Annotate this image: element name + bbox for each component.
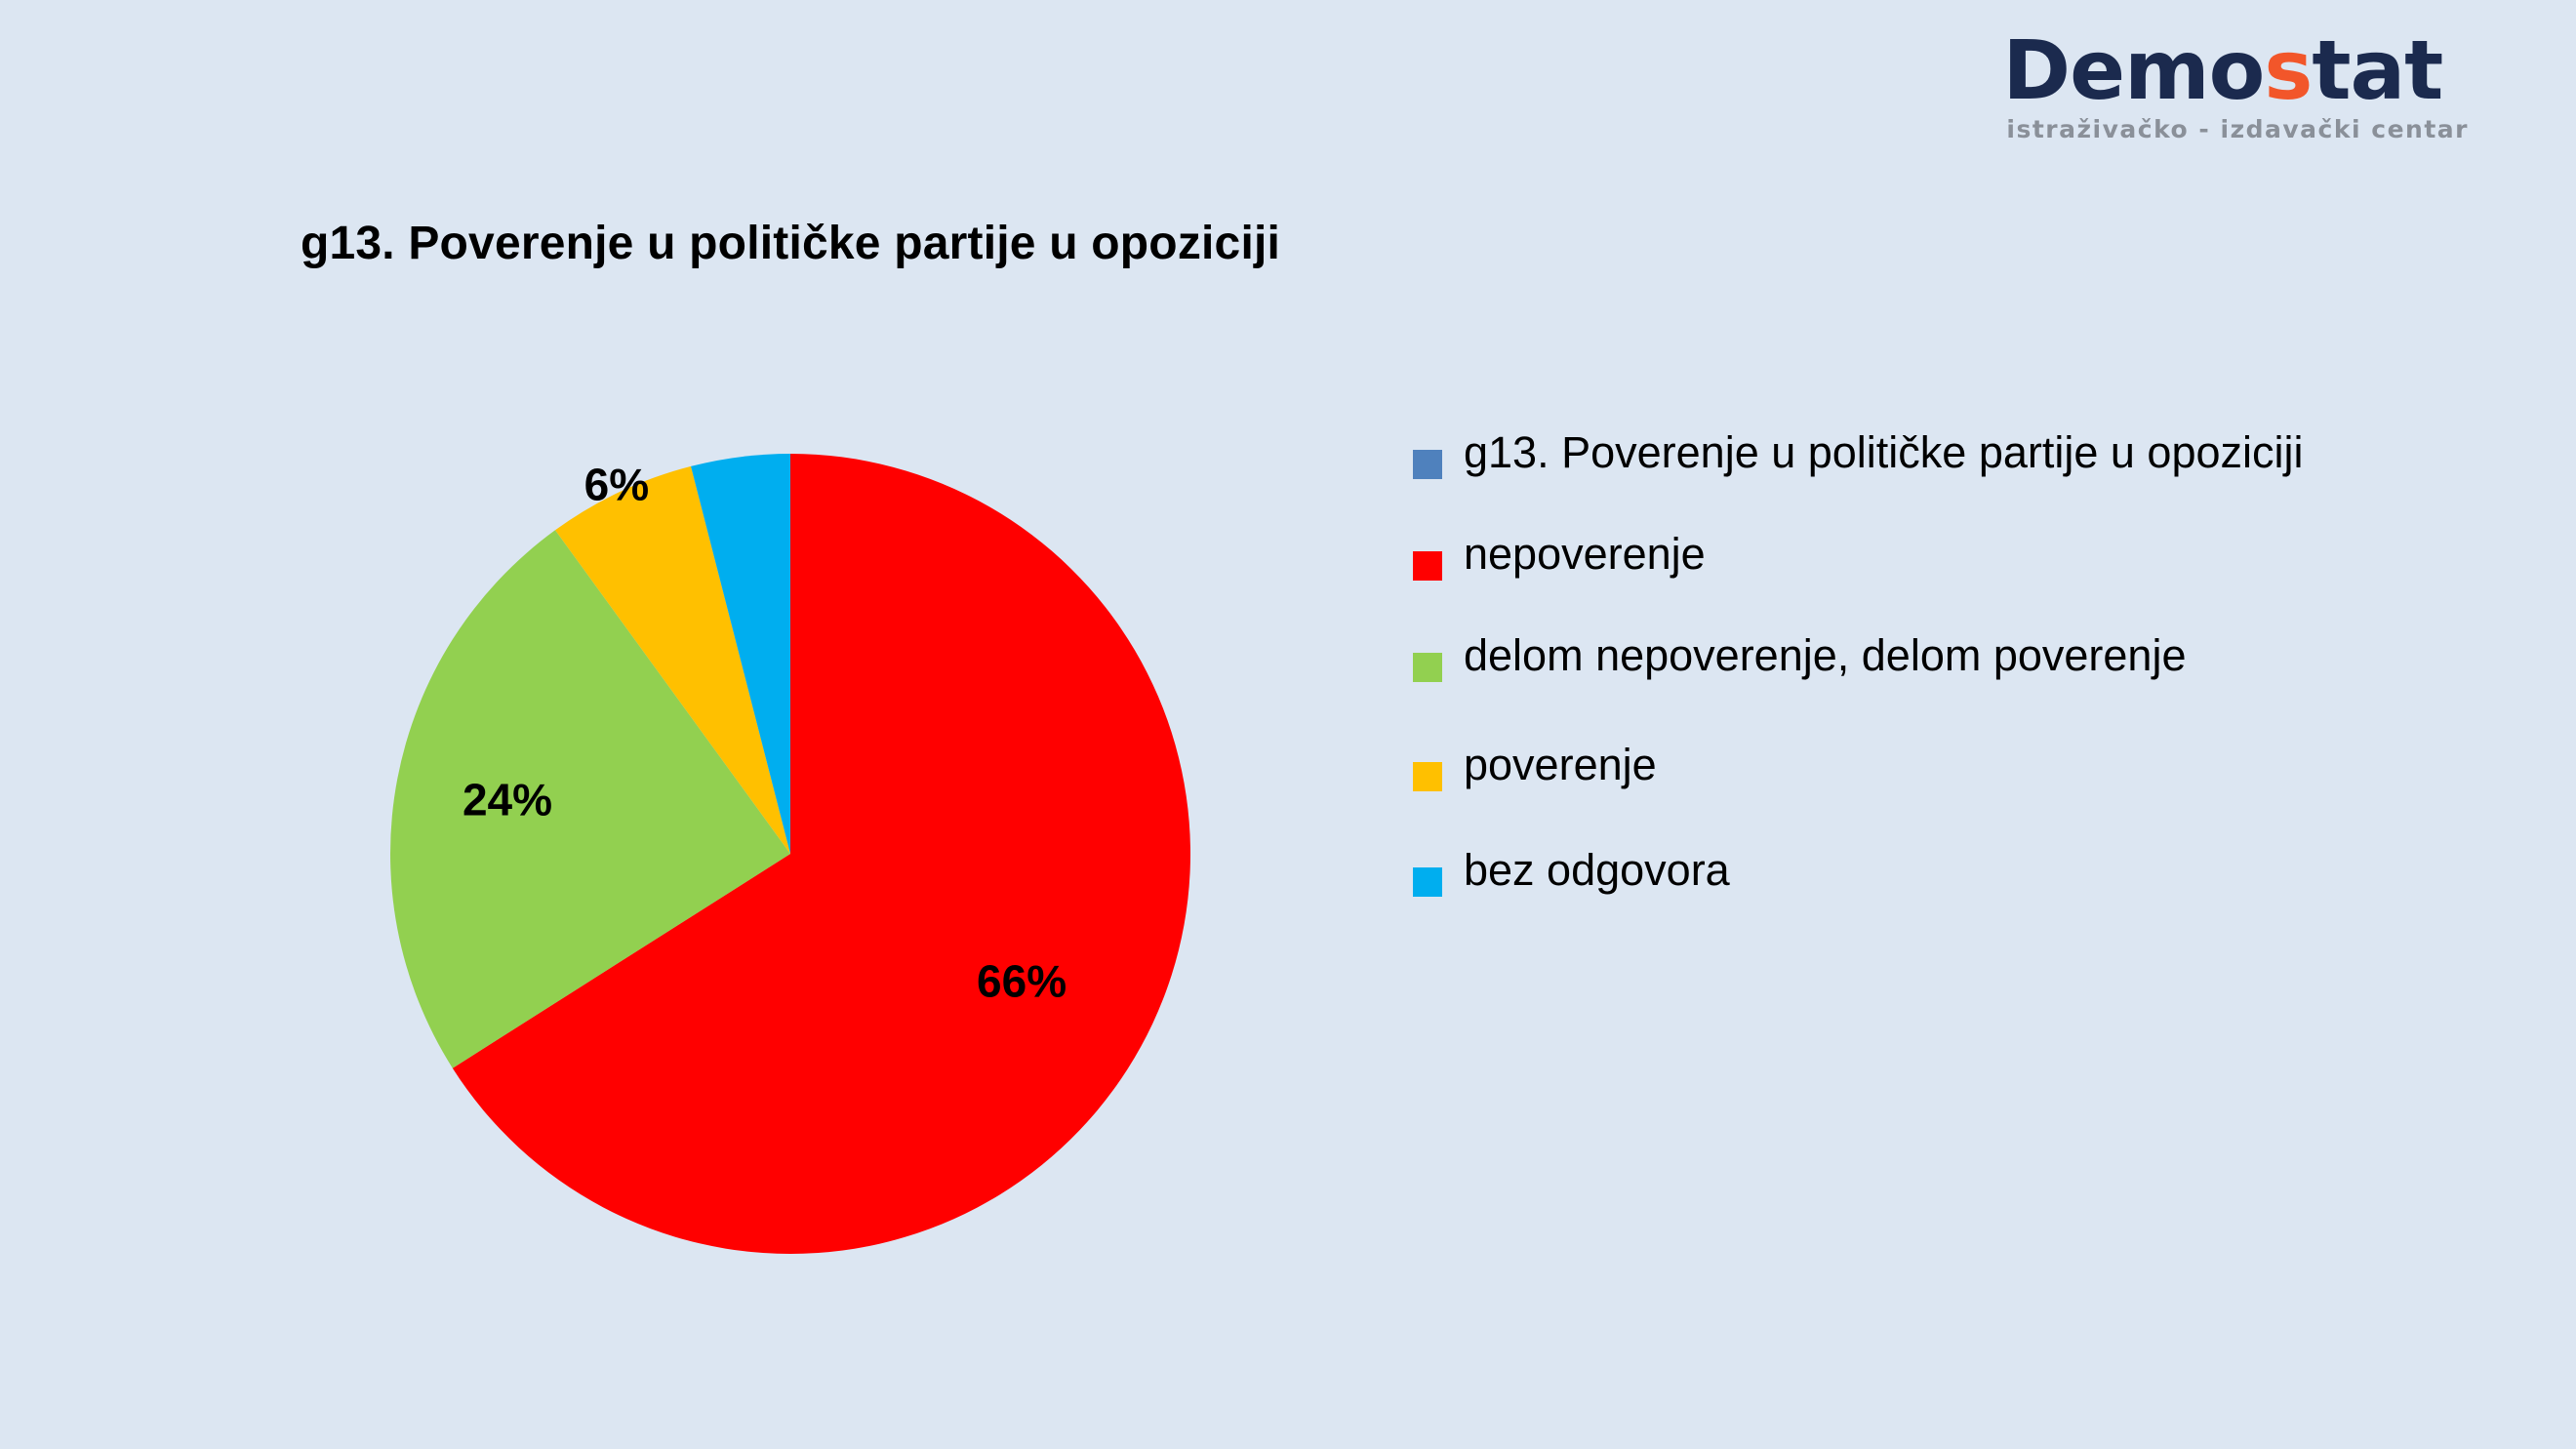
legend-item-delom-nepoverenje-delom-poverenje[interactable]: delom nepoverenje, delom poverenje — [1413, 632, 2506, 742]
pie-data-label: 6% — [584, 460, 649, 510]
chart-legend: g13. Poverenje u političke partije u opo… — [1413, 429, 2506, 948]
legend-label-poverenje: poverenje — [1464, 742, 1657, 788]
legend-item-poverenje[interactable]: poverenje — [1413, 742, 2506, 847]
pie-slice-group — [390, 454, 1190, 1254]
legend-item-series[interactable]: g13. Poverenje u političke partije u opo… — [1413, 429, 2506, 531]
legend-swatch-nepoverenje — [1413, 551, 1442, 581]
pie-data-label: 66% — [977, 955, 1067, 1006]
logo-word-part2: tat — [2312, 22, 2442, 118]
pie-chart: 66%24%6%4% — [390, 454, 1190, 1254]
legend-label-bez-odgovora: bez odgovora — [1464, 847, 1730, 894]
legend-label-nepoverenje: nepoverenje — [1464, 531, 1706, 578]
legend-swatch-bez-odgovora — [1413, 867, 1442, 897]
pie-chart-svg: 66%24%6%4% — [390, 454, 1190, 1254]
logo-word-part1: Demo — [2002, 22, 2264, 118]
legend-item-nepoverenje[interactable]: nepoverenje — [1413, 531, 2506, 632]
legend-label-delom-nepoverenje-delom-poverenje: delom nepoverenje, delom poverenje — [1464, 632, 2186, 679]
pie-data-label: 24% — [463, 775, 552, 825]
chart-title: g13. Poverenje u političke partije u opo… — [0, 217, 1581, 270]
logo-word-accent: s — [2264, 22, 2312, 118]
legend-swatch-delom-nepoverenje-delom-poverenje — [1413, 653, 1442, 682]
legend-swatch-series — [1413, 450, 1442, 479]
logo-wordmark: Demostat — [2002, 29, 2469, 111]
logo-subtitle: istraživačko - izdavački centar — [2002, 117, 2469, 141]
legend-swatch-poverenje — [1413, 762, 1442, 791]
legend-label-series: g13. Poverenje u političke partije u opo… — [1464, 429, 2304, 476]
demostat-logo: Demostat istraživačko - izdavački centar — [2002, 29, 2469, 141]
legend-item-bez-odgovora[interactable]: bez odgovora — [1413, 847, 2506, 948]
